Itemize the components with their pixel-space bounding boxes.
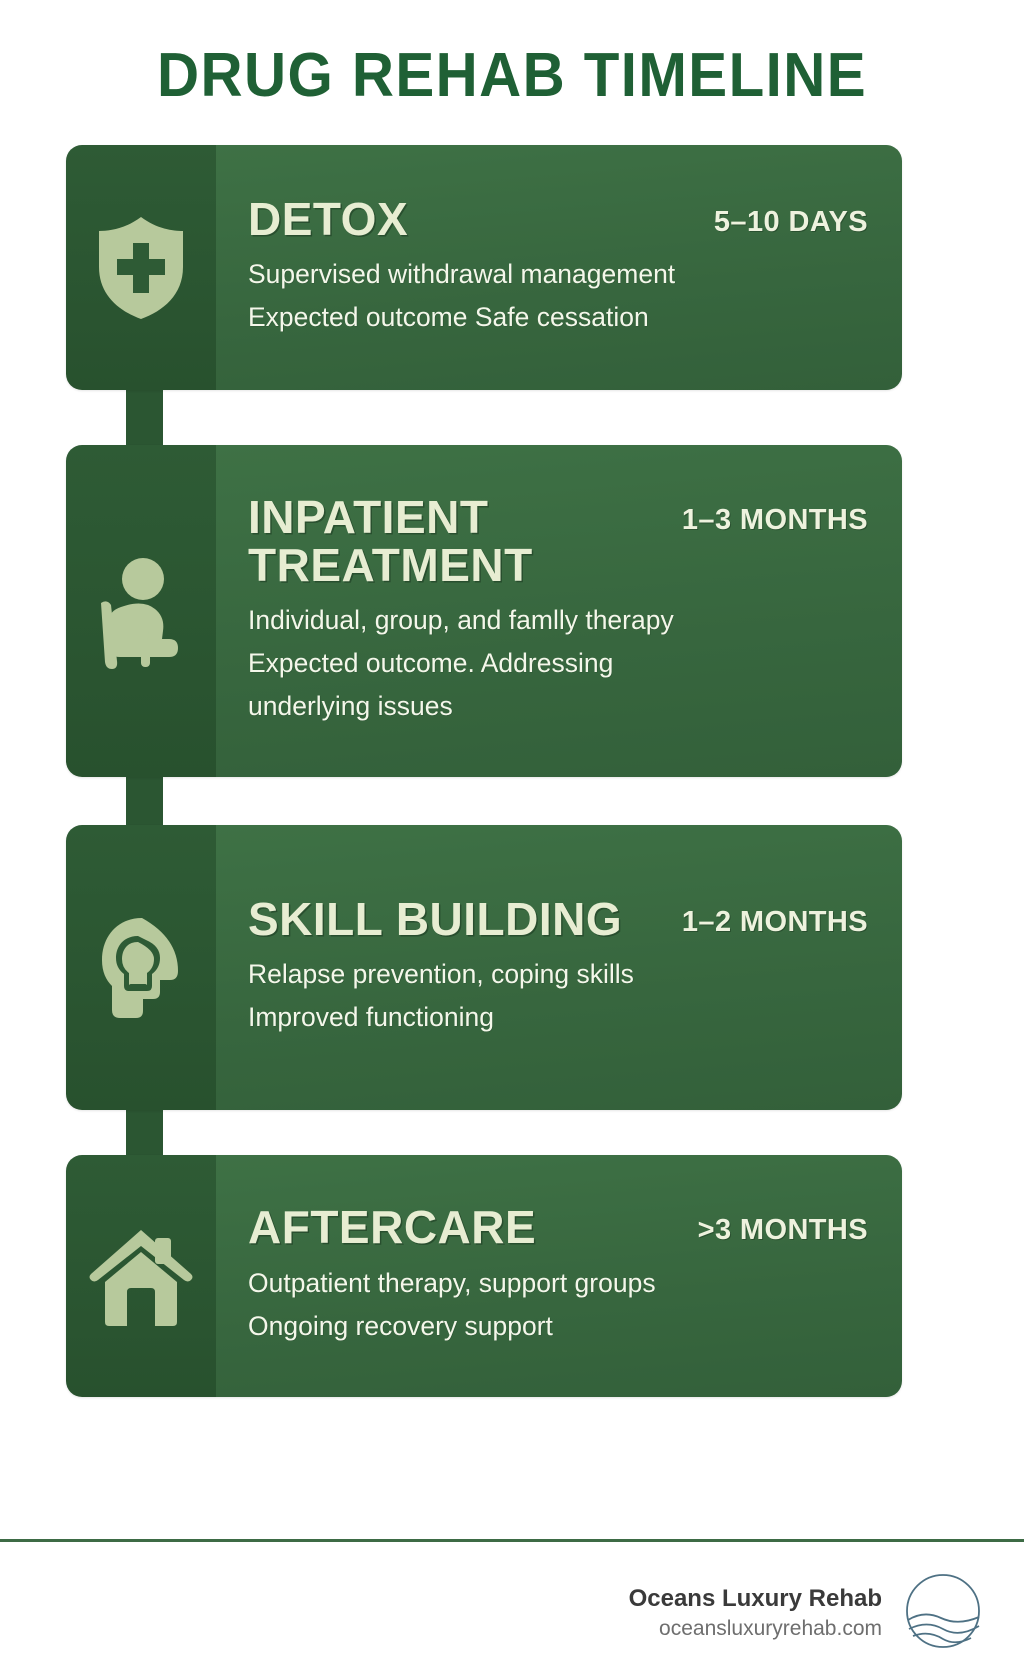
stage-header-row: SKILL BUILDING 1–2 MONTHS (248, 896, 868, 943)
footer: Oceans Luxury Rehab oceansluxuryrehab.co… (0, 1560, 1024, 1666)
stage-title: SKILL BUILDING (248, 896, 622, 943)
stage-header-row: INPATIENT TREATMENT 1–3 MONTHS (248, 494, 868, 589)
shield-plus-icon (95, 215, 187, 321)
stage-duration: 1–2 MONTHS (682, 896, 868, 939)
person-in-chair-icon (91, 553, 191, 669)
stage-card-inpatient[interactable]: INPATIENT TREATMENT 1–3 MONTHS Individua… (66, 445, 902, 777)
stage-body: AFTERCARE >3 MONTHS Outpatient therapy, … (216, 1155, 902, 1397)
stage-description-line: Outpatient therapy, support groups (248, 1262, 868, 1305)
stage-description: Outpatient therapy, support groups Ongoi… (248, 1262, 868, 1348)
brand-url[interactable]: oceansluxuryrehab.com (629, 1615, 882, 1643)
brand-name: Oceans Luxury Rehab (629, 1583, 882, 1615)
infographic-page: DRUG REHAB TIMELINE DETOX 5–10 DAYS (0, 0, 1024, 1666)
stage-title: INPATIENT TREATMENT (248, 494, 668, 589)
stage-icon-container (66, 1155, 216, 1397)
stage-title: DETOX (248, 196, 408, 243)
stage-icon-container (66, 145, 216, 390)
stage-description: Individual, group, and famlly therapy Ex… (248, 599, 868, 728)
stage-duration: 5–10 DAYS (714, 196, 868, 239)
stage-header-row: DETOX 5–10 DAYS (248, 196, 868, 243)
timeline-container: DETOX 5–10 DAYS Supervised withdrawal ma… (0, 145, 1024, 1405)
stage-card-skill-building[interactable]: SKILL BUILDING 1–2 MONTHS Relapse preven… (66, 825, 902, 1110)
stage-body: SKILL BUILDING 1–2 MONTHS Relapse preven… (216, 825, 902, 1110)
oceans-wave-circle-logo (904, 1572, 982, 1655)
head-lightbulb-icon (92, 914, 190, 1022)
footer-divider (0, 1539, 1024, 1542)
page-title: DRUG REHAB TIMELINE (31, 40, 994, 111)
stage-duration: 1–3 MONTHS (682, 494, 868, 537)
stage-description-line: Supervised withdrawal management (248, 253, 868, 296)
stage-description: Supervised withdrawal management Expecte… (248, 253, 868, 339)
stage-description-line: Expected outcome Safe cessation (248, 296, 868, 339)
stage-card-detox[interactable]: DETOX 5–10 DAYS Supervised withdrawal ma… (66, 145, 902, 390)
stage-description-line: Individual, group, and famlly therapy (248, 599, 868, 642)
stage-icon-container (66, 445, 216, 777)
stage-duration: >3 MONTHS (698, 1204, 868, 1247)
house-icon (89, 1226, 193, 1326)
stage-header-row: AFTERCARE >3 MONTHS (248, 1204, 868, 1251)
stage-icon-container (66, 825, 216, 1110)
stage-description: Relapse prevention, coping skills Improv… (248, 953, 868, 1039)
footer-brand-text: Oceans Luxury Rehab oceansluxuryrehab.co… (629, 1583, 882, 1644)
stage-body: INPATIENT TREATMENT 1–3 MONTHS Individua… (216, 445, 902, 777)
stage-description-line: underlying issues (248, 685, 868, 728)
stage-description-line: Ongoing recovery support (248, 1305, 868, 1348)
stage-description-line: Expected outcome. Addressing (248, 642, 868, 685)
stage-description-line: Improved functioning (248, 996, 868, 1039)
stage-body: DETOX 5–10 DAYS Supervised withdrawal ma… (216, 145, 902, 390)
stage-card-aftercare[interactable]: AFTERCARE >3 MONTHS Outpatient therapy, … (66, 1155, 902, 1397)
stage-description-line: Relapse prevention, coping skills (248, 953, 868, 996)
stage-title: AFTERCARE (248, 1204, 536, 1251)
